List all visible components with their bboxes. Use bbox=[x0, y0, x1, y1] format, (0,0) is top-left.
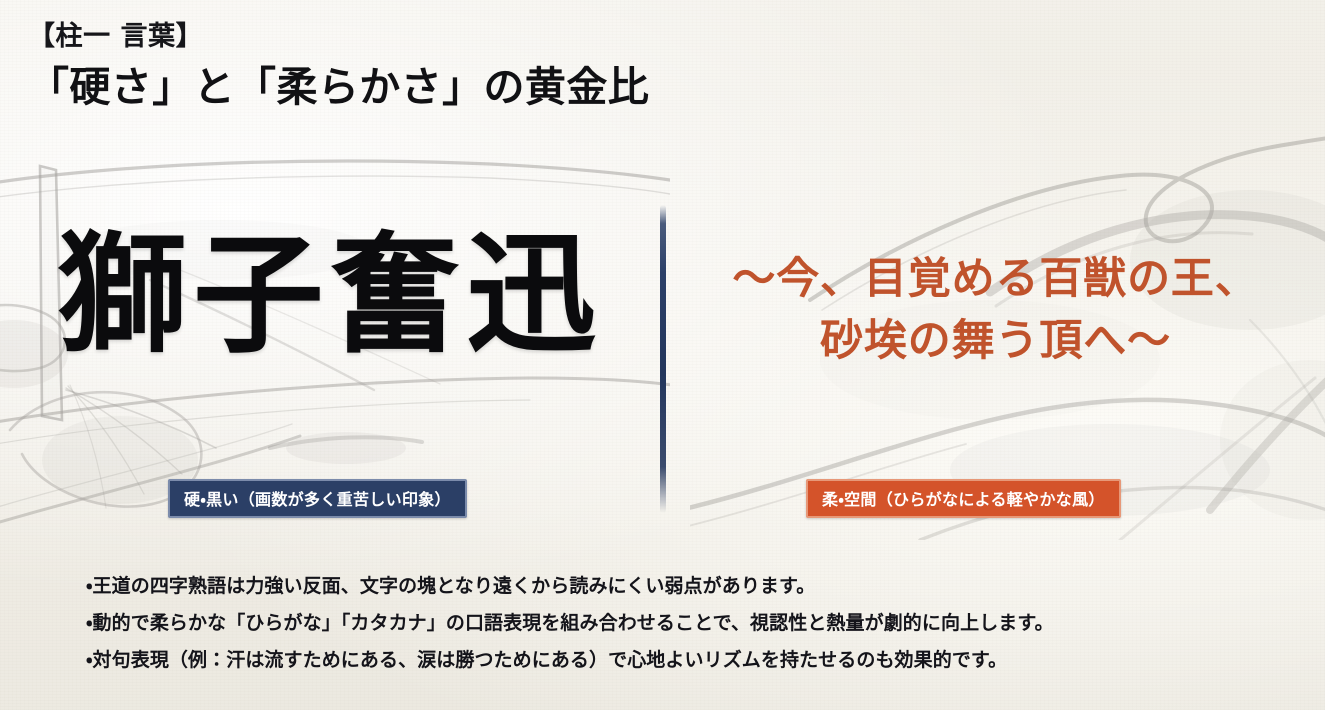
page-kicker: 【柱一 言葉】 bbox=[28, 20, 649, 54]
comparison-section: 獅子奮迅 硬・黒い（画数が多く重苦しい印象） 〜今、目覚める百獣の王、 砂埃の舞… bbox=[0, 170, 1325, 540]
soft-term-line-2: 砂埃の舞う頂へ〜 bbox=[676, 310, 1315, 372]
note-item: ・動的で柔らかな「ひらがな」「カタカナ」の口語表現を組み合わせることで、視認性と… bbox=[86, 605, 1286, 642]
hard-term-text: 獅子奮迅 bbox=[0, 230, 660, 360]
hard-label-badge: 硬・黒い（画数が多く重苦しい印象） bbox=[168, 479, 467, 518]
header-block: 【柱一 言葉】 「硬さ」と「柔らかさ」の黄金比 bbox=[28, 20, 649, 112]
soft-example-panel: 〜今、目覚める百獣の王、 砂埃の舞う頂へ〜 柔・空間（ひらがなによる軽やかな風） bbox=[666, 170, 1325, 540]
note-item: ・対句表現（例：汗は流すためにある、涙は勝つためにある）で心地よいリズムを持たせ… bbox=[86, 642, 1286, 679]
notes-list: ・王道の四字熟語は力強い反面、文字の塊となり遠くから読みにくい弱点があります。 … bbox=[86, 568, 1286, 679]
page-title: 「硬さ」と「柔らかさ」の黄金比 bbox=[28, 62, 649, 112]
note-item: ・王道の四字熟語は力強い反面、文字の塊となり遠くから読みにくい弱点があります。 bbox=[86, 568, 1286, 605]
soft-term-line-1: 〜今、目覚める百獣の王、 bbox=[676, 248, 1315, 310]
slide-canvas: 【柱一 言葉】 「硬さ」と「柔らかさ」の黄金比 獅子奮迅 硬・黒い（画数が多く重… bbox=[0, 0, 1325, 710]
soft-term-text: 〜今、目覚める百獣の王、 砂埃の舞う頂へ〜 bbox=[676, 248, 1315, 373]
hard-example-panel: 獅子奮迅 硬・黒い（画数が多く重苦しい印象） bbox=[0, 170, 660, 540]
soft-label-badge: 柔・空間（ひらがなによる軽やかな風） bbox=[806, 479, 1121, 518]
